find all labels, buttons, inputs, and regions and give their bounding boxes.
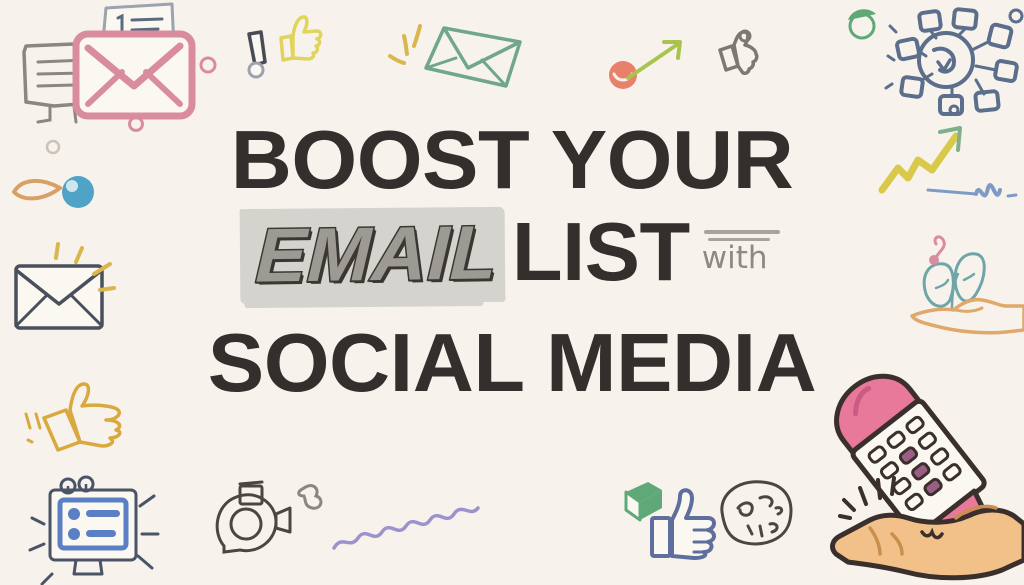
exclamation-mark-icon — [243, 28, 277, 86]
monitor-list-icon — [30, 478, 150, 584]
thumbs-up-outline-icon — [712, 28, 768, 80]
scribble-blob-icon — [292, 482, 326, 516]
letter-paper-icon — [96, 2, 192, 58]
green-leaf-circle-icon — [842, 6, 882, 42]
open-envelope-green-icon — [420, 18, 530, 98]
coral-dot-icon — [606, 58, 640, 92]
annotation-underline-2 — [708, 238, 770, 241]
headline-line-2: EMAILLISTwith — [0, 202, 1024, 320]
thumbs-up-blue-icon — [646, 486, 724, 562]
annotation-with: with — [702, 190, 768, 308]
network-gear-icon — [884, 4, 1024, 134]
purple-wave-icon — [332, 500, 580, 556]
thumbs-up-yellow-icon — [267, 12, 325, 68]
small-circle-dot-icon — [198, 55, 218, 75]
green-book-icon — [620, 478, 668, 526]
annotation-underline-1 — [704, 230, 780, 234]
highlighted-word-text: EMAIL — [254, 203, 499, 306]
headline-block: BOOST YOUR EMAILLISTwith SOCIAL MEDIA — [0, 118, 1024, 406]
poster-canvas: BOOST YOUR EMAILLISTwith SOCIAL MEDIA — [0, 0, 1024, 585]
scribble-blob-icon — [718, 478, 798, 552]
headline-line-1: BOOST YOUR — [0, 118, 1024, 202]
arrow-rising-icon — [624, 36, 688, 84]
annotation-with-text: with — [702, 240, 768, 276]
camera-icon — [212, 482, 298, 562]
headline-line-3: SOCIAL MEDIA — [0, 320, 1024, 406]
headline-line-2-rest: LIST — [512, 202, 690, 302]
document-list-icon — [14, 32, 134, 132]
highlighted-word-email: EMAIL — [256, 202, 497, 305]
motion-lines-icon — [386, 22, 434, 72]
